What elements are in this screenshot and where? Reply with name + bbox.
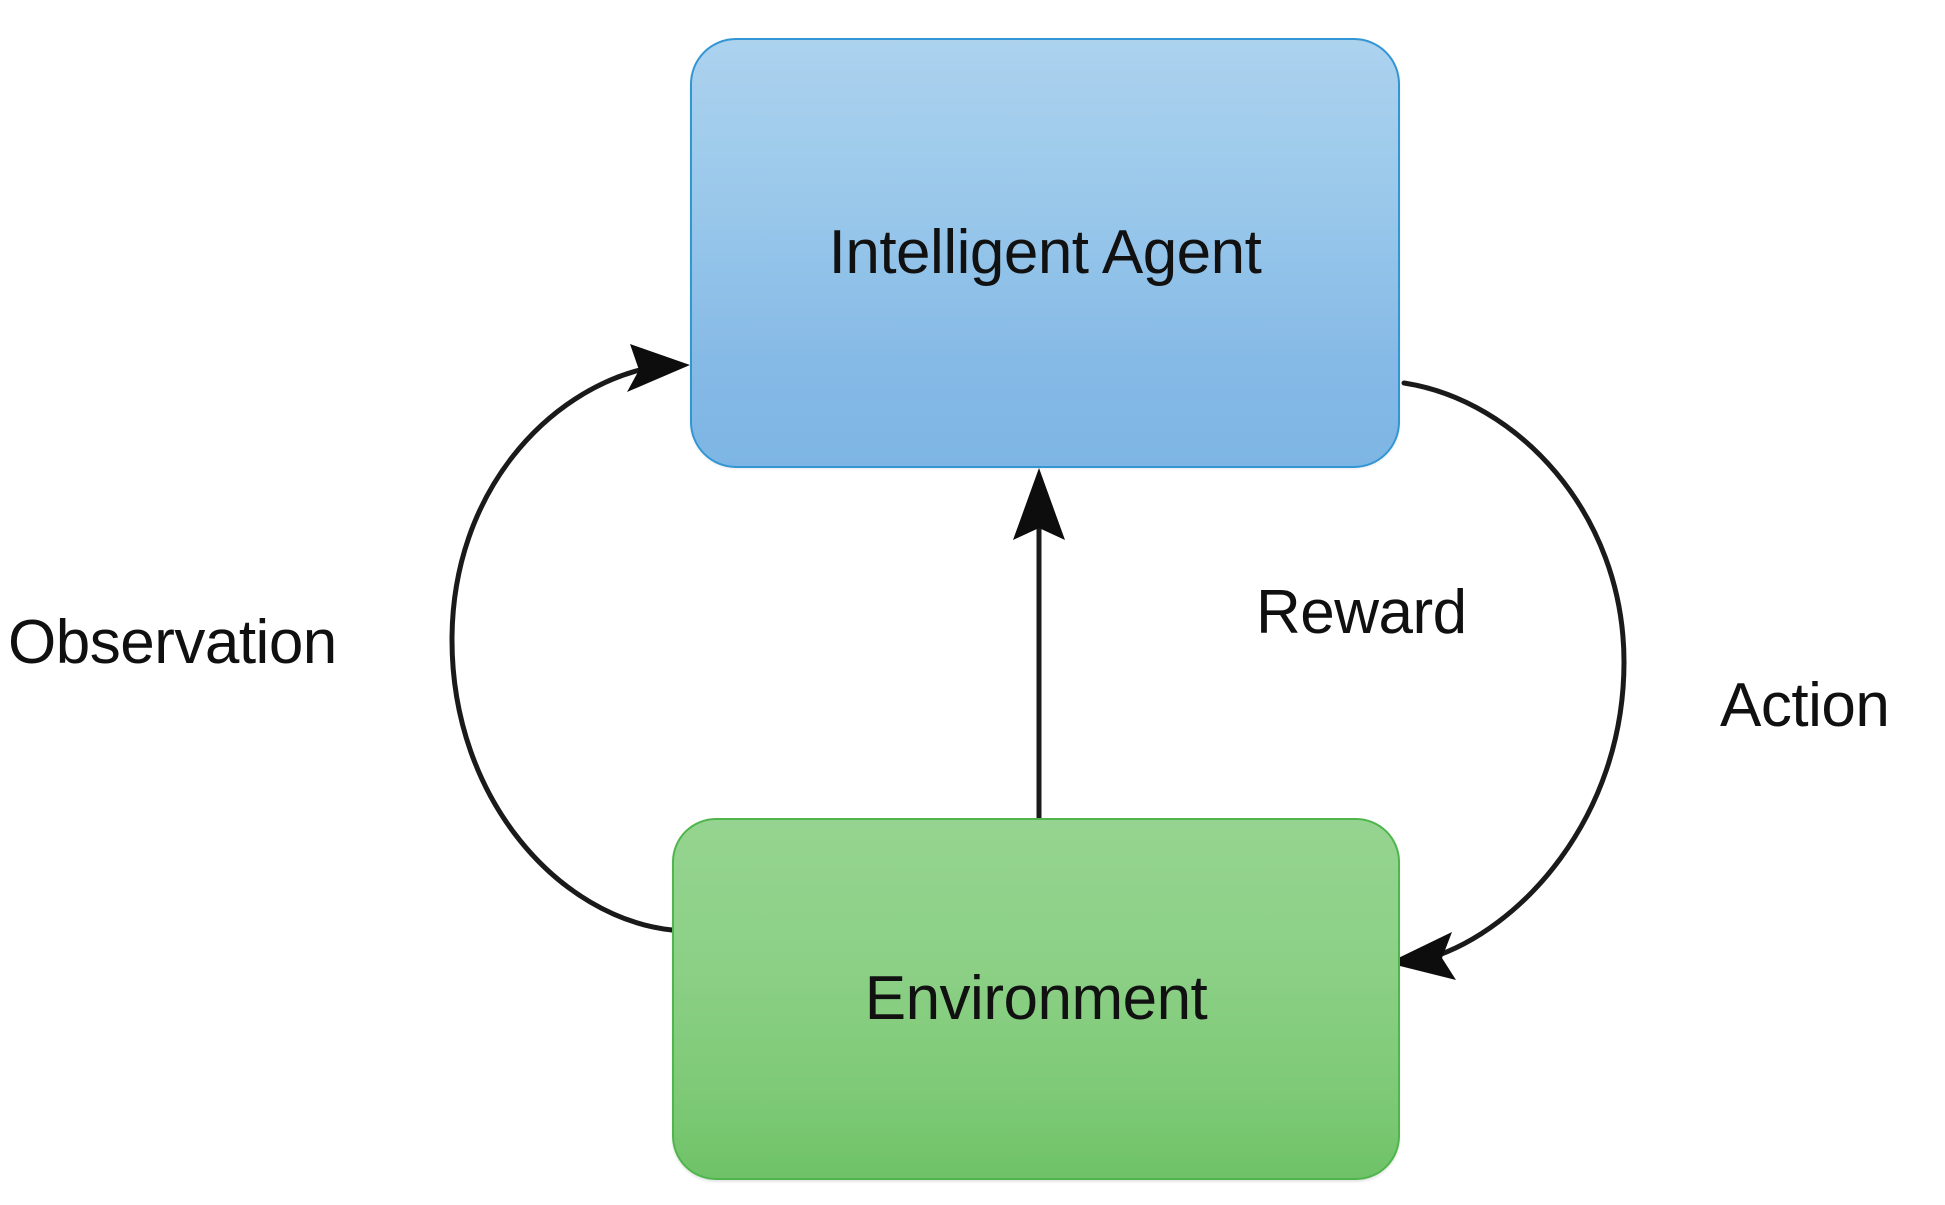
reward-edge-label: Reward [1256, 582, 1467, 644]
observation-connector [452, 344, 690, 930]
action-arc-path [1404, 383, 1624, 958]
intelligent-agent-label: Intelligent Agent [829, 222, 1262, 284]
action-edge-label: Action [1720, 675, 1889, 737]
environment-node[interactable]: Environment [672, 818, 1400, 1180]
reward-connector [1013, 468, 1065, 830]
diagram-canvas: Intelligent Agent Environment Observatio… [0, 0, 1945, 1205]
environment-label: Environment [865, 968, 1208, 1030]
action-connector [1388, 383, 1624, 980]
observation-edge-label: Observation [8, 612, 337, 674]
observation-arc-path [452, 368, 672, 930]
observation-arrowhead-icon [627, 344, 690, 392]
intelligent-agent-node[interactable]: Intelligent Agent [690, 38, 1400, 468]
